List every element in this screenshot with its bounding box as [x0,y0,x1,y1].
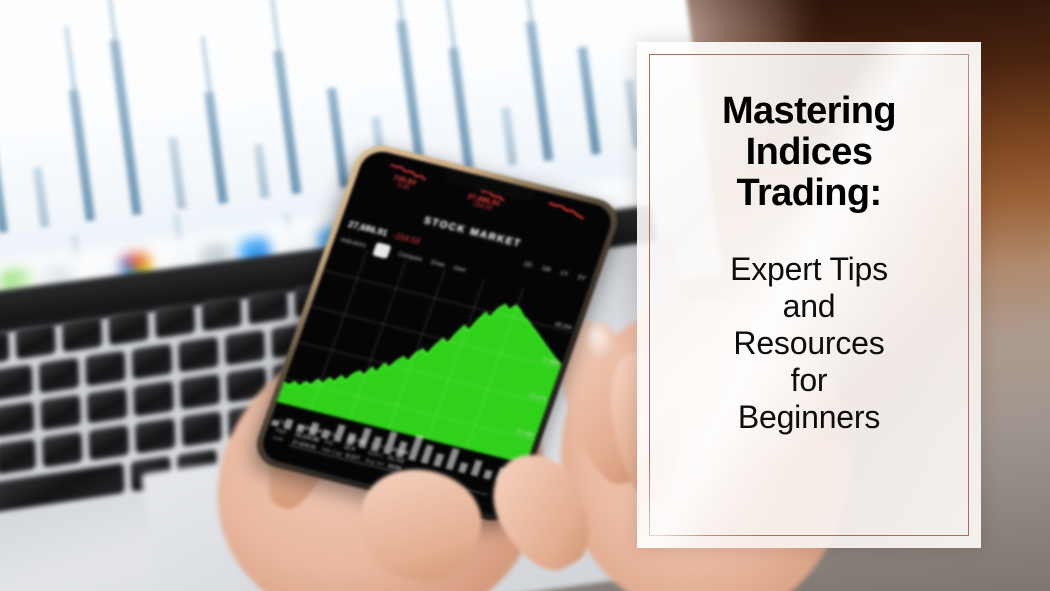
ticker-item[interactable] [546,202,587,222]
stat-label: Low [272,435,290,445]
tool-compare[interactable]: Compare [397,252,423,264]
promo-banner: 735.84 -3.45 27,686.91 -154.53 [0,0,1050,591]
title-line-2: Indices [746,131,873,173]
subtitle-line-2: and [783,288,836,324]
text-panel: Mastering Indices Trading: Expert Tips a… [637,42,981,548]
title-line-3: Trading: [736,172,881,214]
subtitle-line-3: Resources [733,325,884,361]
title-line-1: Mastering [722,90,896,132]
range-tab-1y[interactable]: 1Y [559,270,569,279]
tool-draw[interactable]: Draw [430,260,446,269]
subtitle-line-1: Expert Tips [730,251,888,287]
range-tab-1d[interactable]: 1D [523,261,533,270]
panel-content: Mastering Indices Trading: Expert Tips a… [657,66,961,528]
stat-value: 22.4 [343,444,355,452]
tool-alert[interactable]: Alert [452,265,466,274]
stat-value: 8.21T [345,453,361,462]
headline-change: -154.53 [392,231,421,246]
page-title: Mastering Indices Trading: [722,91,896,213]
page-subtitle: Expert Tips and Resources for Beginners [730,251,888,437]
range-tab-1m[interactable]: 1M [540,265,551,274]
sparkline-down-icon [546,202,587,222]
ticker-item[interactable]: 735.84 -3.45 [383,163,428,195]
range-tab-5y[interactable]: 5Y [577,274,587,283]
tool-indicators[interactable]: Indicators [339,237,366,249]
subtitle-line-4: for [791,362,828,398]
subtitle-line-5: Beginners [738,399,880,435]
